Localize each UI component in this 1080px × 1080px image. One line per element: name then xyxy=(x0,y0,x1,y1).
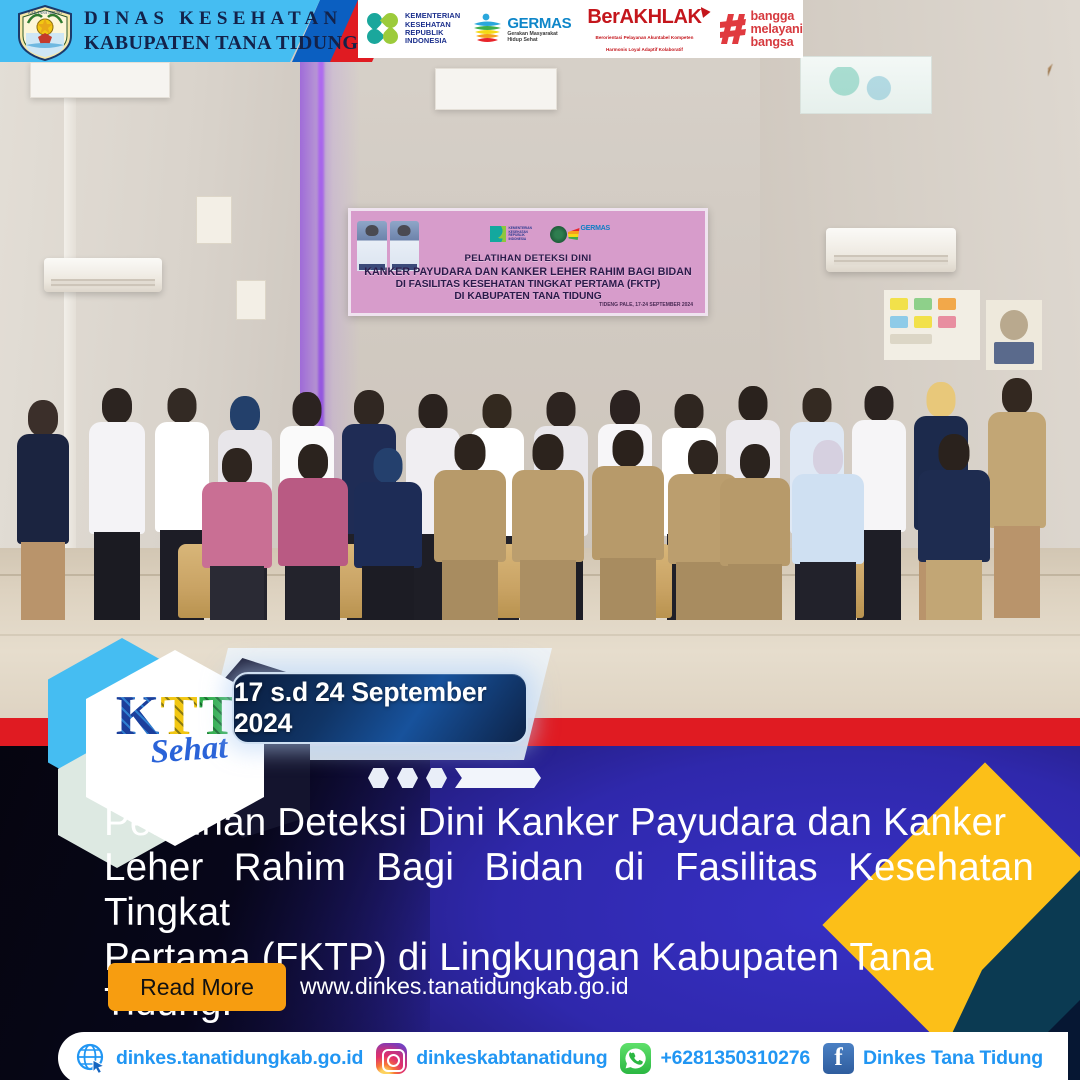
kemenkes-logo: KEMENTERIAN KESEHATAN REPUBLIK INDONESIA xyxy=(366,12,460,46)
banner-line-3: DI FASILITAS KESEHATAN TINGKAT PERTAMA (… xyxy=(351,279,705,290)
footer-instagram[interactable]: dinkeskabtanatidung xyxy=(376,1043,607,1074)
berakhlak-logo: BerAKHLAK Berorientasi Pelayanan Akuntab… xyxy=(587,6,701,52)
hex-dot xyxy=(368,768,389,788)
wall-screen-right xyxy=(800,56,932,114)
footer-instagram-label: dinkeskabtanatidung xyxy=(416,1047,607,1070)
whatsapp-icon xyxy=(620,1043,651,1074)
footer-facebook-label: Dinkes Tana Tidung xyxy=(863,1047,1043,1070)
regency-crest-icon: KAB. TANA TIDUNG xyxy=(16,5,74,61)
footer-website[interactable]: dinkes.tanatidungkab.go.id xyxy=(76,1043,363,1074)
plant-frond xyxy=(1048,58,1080,116)
banner-kemenkes-text: KEMENTERIAN KESEHATAN REPUBLIK INDONESIA xyxy=(509,227,536,241)
banner-date: TIDENG PALE, 17-24 SEPTEMBER 2024 xyxy=(599,302,693,308)
ac-unit-left xyxy=(44,258,162,292)
participant xyxy=(986,374,1048,620)
participant-seated xyxy=(200,432,274,620)
footer-whatsapp-label: +6281350310276 xyxy=(660,1047,810,1070)
banner-line-1: PELATIHAN DETEKSI DINI xyxy=(351,253,705,264)
hash-mark-icon xyxy=(720,14,746,44)
globe-cursor-icon xyxy=(76,1043,107,1074)
banner-kemenkes-logo: KEMENTERIAN KESEHATAN REPUBLIK INDONESIA xyxy=(490,225,536,243)
participant-seated xyxy=(352,432,424,620)
participant-seated xyxy=(276,430,350,620)
banner-line-4: DI KABUPATEN TANA TIDUNG xyxy=(351,291,705,302)
partner-logos: KEMENTERIAN KESEHATAN REPUBLIK INDONESIA… xyxy=(366,5,803,53)
website-url[interactable]: www.dinkes.tanatidungkab.go.id xyxy=(300,973,629,1000)
org-line-2: KABUPATEN TANA TIDUNG xyxy=(84,32,358,55)
headline-line-1: Pelatihan Deteksi Dini Kanker Payudara d… xyxy=(104,800,1034,845)
read-more-button[interactable]: Read More xyxy=(108,963,286,1011)
germas-label: GERMAS Gerakan Masyarakat Hidup Sehat xyxy=(507,16,571,43)
berakhlak-title: BerAKHLAK xyxy=(587,6,701,29)
footer-contact-bar: dinkes.tanatidungkab.go.id dinkeskabtana… xyxy=(58,1032,1068,1080)
participant-seated xyxy=(510,424,586,620)
arrow-bar xyxy=(455,768,541,788)
participant-seated xyxy=(790,428,866,620)
participants-group xyxy=(0,320,1080,620)
svg-text:KAB. TANA TIDUNG: KAB. TANA TIDUNG xyxy=(28,11,62,15)
date-badge: 17 s.d 24 September 2024 xyxy=(232,672,528,744)
banner-seal-logo xyxy=(550,226,567,243)
kemenkes-flower-icon xyxy=(366,12,400,46)
footer-whatsapp[interactable]: +6281350310276 xyxy=(620,1043,810,1074)
germas-figure-icon xyxy=(472,13,502,45)
org-line-1: DINAS KESEHATAN xyxy=(84,8,358,30)
participant xyxy=(86,382,148,620)
bangga-melayani-logo: bangga melayani bangsa xyxy=(720,10,803,49)
banner-line-2: KANKER PAYUDARA DAN KANKER LEHER RAHIM B… xyxy=(351,266,705,278)
participant-seated xyxy=(590,422,666,620)
date-badge-text: 17 s.d 24 September 2024 xyxy=(234,677,526,739)
participant-seated xyxy=(718,430,792,620)
ceiling-panel-mid xyxy=(435,68,557,110)
bangga-label: bangga melayani bangsa xyxy=(751,10,803,49)
berakhlak-sub-1: Berorientasi Pelayanan Akuntabel Kompete… xyxy=(596,35,694,41)
participant xyxy=(14,390,72,620)
instagram-icon xyxy=(376,1043,407,1074)
hex-dot xyxy=(426,768,447,788)
ac-unit-right xyxy=(826,228,956,272)
germas-logo: GERMAS Gerakan Masyarakat Hidup Sehat xyxy=(472,13,571,45)
banner-text: PELATIHAN DETEKSI DINI KANKER PAYUDARA D… xyxy=(351,253,705,302)
poster-canvas: KEMENTERIAN KESEHATAN REPUBLIK INDONESIA… xyxy=(0,0,1080,1080)
hex-dot xyxy=(397,768,418,788)
headline-line-2: Leher Rahim Bagi Bidan di Fasilitas Kese… xyxy=(104,845,1034,935)
decorative-dots xyxy=(368,768,541,788)
kemenkes-label: KEMENTERIAN KESEHATAN REPUBLIK INDONESIA xyxy=(405,12,460,45)
participant-seated xyxy=(916,424,992,620)
group-photo: KEMENTERIAN KESEHATAN REPUBLIK INDONESIA… xyxy=(0,0,1080,718)
header-org-title: DINAS KESEHATAN KABUPATEN TANA TIDUNG xyxy=(84,8,358,55)
banner-germas-logo: GERMAS xyxy=(581,225,633,243)
footer-facebook[interactable]: f Dinkes Tana Tidung xyxy=(823,1043,1043,1074)
footer-website-label: dinkes.tanatidungkab.go.id xyxy=(116,1047,363,1070)
ceiling-panel-left xyxy=(30,62,170,98)
banner-logos: KEMENTERIAN KESEHATAN REPUBLIK INDONESIA… xyxy=(471,223,651,245)
berakhlak-sub-2: Harmonis Loyal Adaptif Kolaboratif xyxy=(606,47,683,53)
facebook-icon: f xyxy=(823,1043,854,1074)
wall-poster-1 xyxy=(196,196,232,244)
event-banner: KEMENTERIAN KESEHATAN REPUBLIK INDONESIA… xyxy=(348,208,708,316)
participant-seated xyxy=(432,424,508,620)
wall-poster-2 xyxy=(236,280,266,320)
